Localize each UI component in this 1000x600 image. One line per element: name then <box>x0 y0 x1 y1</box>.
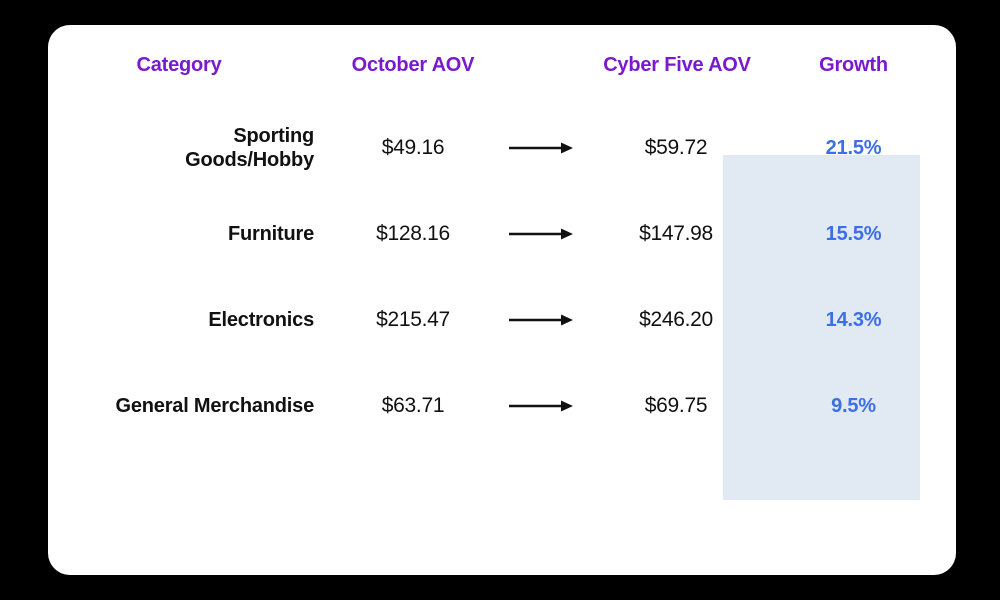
cell-growth: 14.3% <box>751 277 956 363</box>
aov-comparison-table: Category October AOV Cyber Five AOV Grow… <box>48 25 956 449</box>
cell-cyber-five-aov: $246.20 <box>593 277 751 363</box>
page-background: Category October AOV Cyber Five AOV Grow… <box>0 0 1000 600</box>
table-header-row: Category October AOV Cyber Five AOV Grow… <box>48 25 956 105</box>
table-row: General Merchandise $63.71 $69.75 9.5% <box>48 363 956 449</box>
category-label-line-1: Electronics <box>208 309 314 331</box>
cell-arrow <box>488 105 593 191</box>
cell-cyber-five-aov: $59.72 <box>593 105 751 191</box>
column-header-october-aov: October AOV <box>338 25 488 105</box>
cell-arrow <box>488 363 593 449</box>
table-row: Furniture $128.16 $147.98 15.5% <box>48 191 956 277</box>
cell-october-aov: $63.71 <box>338 363 488 449</box>
cell-growth: 9.5% <box>751 363 956 449</box>
arrow-right-icon <box>509 141 573 155</box>
cell-growth: 21.5% <box>751 105 956 191</box>
arrow-right-icon <box>509 399 573 413</box>
cell-october-aov: $128.16 <box>338 191 488 277</box>
cell-october-aov: $215.47 <box>338 277 488 363</box>
arrow-right-icon <box>509 227 573 241</box>
table-header: Category October AOV Cyber Five AOV Grow… <box>48 25 956 105</box>
cell-category: General Merchandise <box>48 363 338 449</box>
arrow-right-icon <box>509 313 573 327</box>
column-header-category: Category <box>48 25 338 105</box>
cell-category: Sporting Goods/Hobby <box>48 105 338 191</box>
aov-comparison-card: Category October AOV Cyber Five AOV Grow… <box>48 25 956 575</box>
cell-arrow <box>488 191 593 277</box>
cell-october-aov: $49.16 <box>338 105 488 191</box>
category-label-line-2: Goods/Hobby <box>185 149 314 171</box>
column-header-cyber-five-aov: Cyber Five AOV <box>593 25 751 105</box>
cell-arrow <box>488 277 593 363</box>
table-row: Sporting Goods/Hobby $49.16 $59.72 21.5% <box>48 105 956 191</box>
category-label-line-1: Furniture <box>228 223 314 245</box>
cell-cyber-five-aov: $69.75 <box>593 363 751 449</box>
category-label-line-1: Sporting <box>233 125 314 147</box>
cell-cyber-five-aov: $147.98 <box>593 191 751 277</box>
category-label-line-1: General Merchandise <box>115 395 314 417</box>
cell-category: Electronics <box>48 277 338 363</box>
cell-growth: 15.5% <box>751 191 956 277</box>
column-header-arrow-spacer <box>488 25 593 105</box>
cell-category: Furniture <box>48 191 338 277</box>
table-body: Sporting Goods/Hobby $49.16 $59.72 21.5% <box>48 105 956 449</box>
column-header-growth: Growth <box>751 25 956 105</box>
table-row: Electronics $215.47 $246.20 14.3% <box>48 277 956 363</box>
